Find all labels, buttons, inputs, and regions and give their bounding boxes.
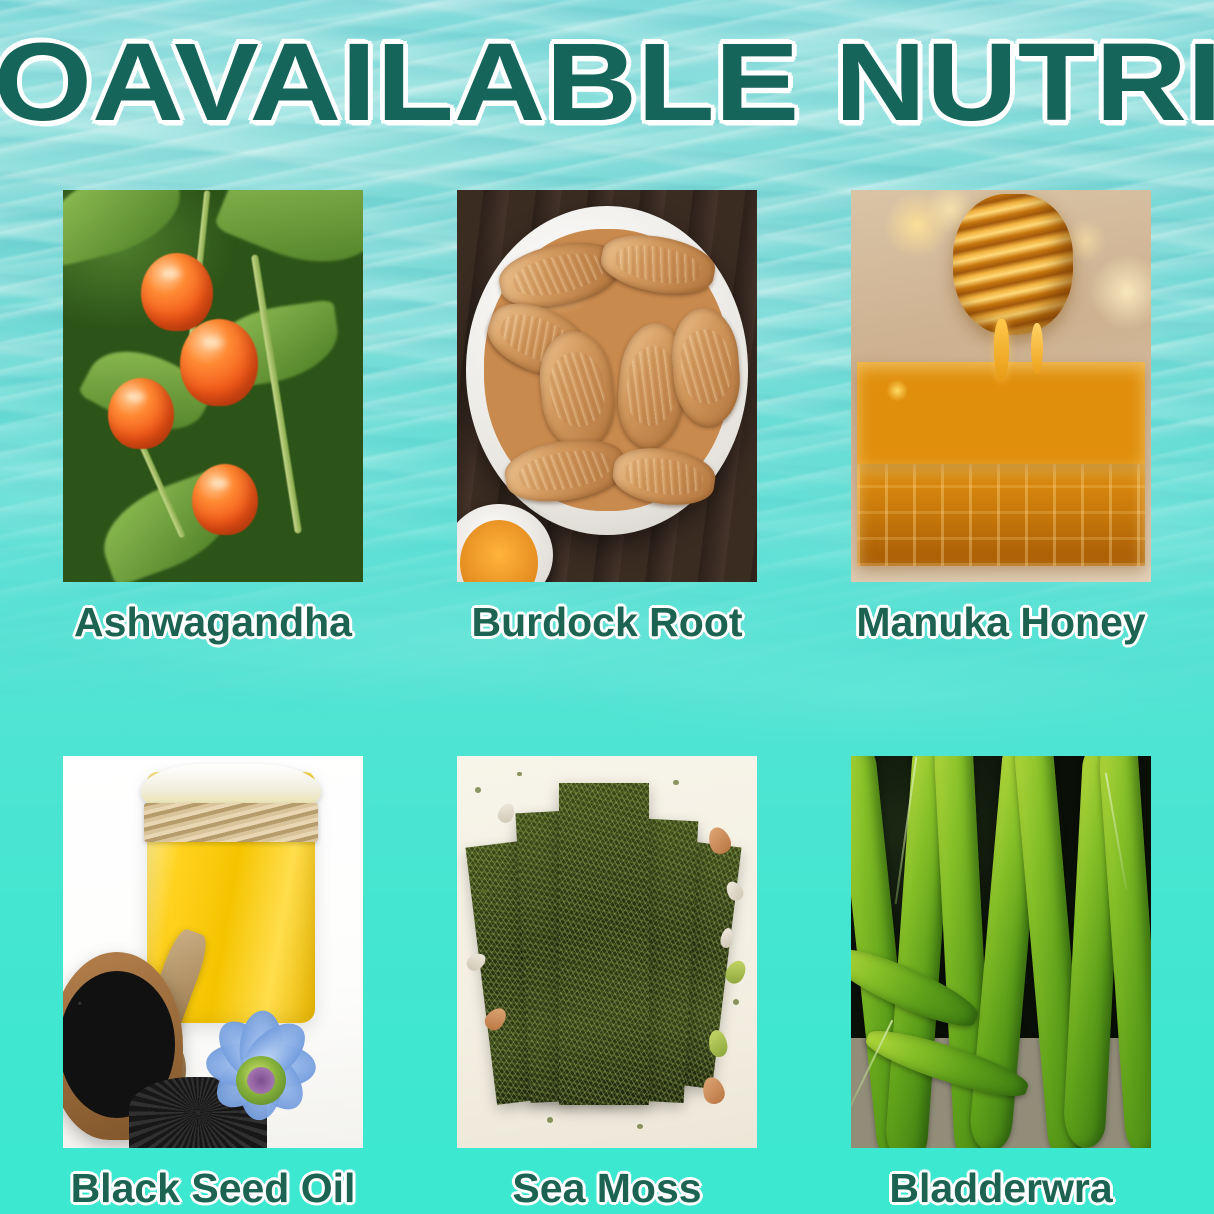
black-seed-oil-photo bbox=[63, 756, 363, 1148]
honeycomb-lower bbox=[857, 464, 1145, 566]
ingredient-card-sea-moss: Sea Moss bbox=[456, 756, 758, 1212]
honey-drip bbox=[1031, 323, 1043, 374]
sea-moss-photo bbox=[457, 756, 757, 1148]
ingredient-label-bladderwrack: Bladderwra bbox=[889, 1164, 1112, 1212]
manuka-honey-artwork bbox=[851, 190, 1151, 582]
ashwagandha-fruit bbox=[192, 464, 258, 535]
page-title: BIOAVAILABLE NUTRITION bbox=[0, 28, 1214, 138]
grid-row-1: Ashwagandha bbox=[0, 190, 1214, 646]
ingredient-card-black-seed-oil: Black Seed Oil bbox=[62, 756, 364, 1212]
seaweed-fleck bbox=[481, 889, 487, 894]
honey-drip bbox=[994, 319, 1009, 382]
sea-moss-artwork bbox=[457, 756, 757, 1148]
seaweed-fleck bbox=[547, 1117, 553, 1123]
flower-center bbox=[236, 1056, 286, 1105]
bladderwrack-photo bbox=[851, 756, 1151, 1148]
ingredient-grid: Ashwagandha bbox=[0, 190, 1214, 1212]
ingredient-card-ashwagandha: Ashwagandha bbox=[62, 190, 364, 646]
ingredient-label-black-seed-oil: Black Seed Oil bbox=[71, 1164, 356, 1212]
grid-row-2: Black Seed Oil bbox=[0, 756, 1214, 1212]
ashwagandha-fruit bbox=[108, 378, 174, 449]
seaweed-fleck bbox=[517, 772, 522, 777]
ashwagandha-artwork bbox=[63, 190, 363, 582]
seaweed-fleck bbox=[733, 999, 739, 1005]
ashwagandha-fruit bbox=[141, 253, 213, 331]
ashwagandha-fruit bbox=[180, 319, 258, 405]
nigella-flower bbox=[177, 983, 345, 1148]
ingredient-card-manuka-honey: Manuka Honey bbox=[850, 190, 1152, 646]
ingredient-label-manuka-honey: Manuka Honey bbox=[856, 598, 1145, 646]
burdock-root-photo bbox=[457, 190, 757, 582]
ashwagandha-photo bbox=[63, 190, 363, 582]
black-seed-oil-artwork bbox=[63, 756, 363, 1148]
poster-canvas: BIOAVAILABLE NUTRITION bbox=[0, 0, 1214, 1214]
ingredient-card-bladderwrack: Bladderwra bbox=[850, 756, 1152, 1212]
seaweed-sheet bbox=[559, 783, 649, 1104]
bladderwrack-artwork bbox=[851, 756, 1151, 1148]
ingredient-label-ashwagandha: Ashwagandha bbox=[74, 598, 352, 646]
honey-dipper bbox=[953, 194, 1073, 335]
jar-twine bbox=[144, 803, 318, 842]
burdock-root-artwork bbox=[457, 190, 757, 582]
ingredient-label-sea-moss: Sea Moss bbox=[512, 1164, 701, 1212]
manuka-honey-photo bbox=[851, 190, 1151, 582]
ingredient-label-burdock-root: Burdock Root bbox=[471, 598, 742, 646]
ingredient-card-burdock-root: Burdock Root bbox=[456, 190, 758, 646]
